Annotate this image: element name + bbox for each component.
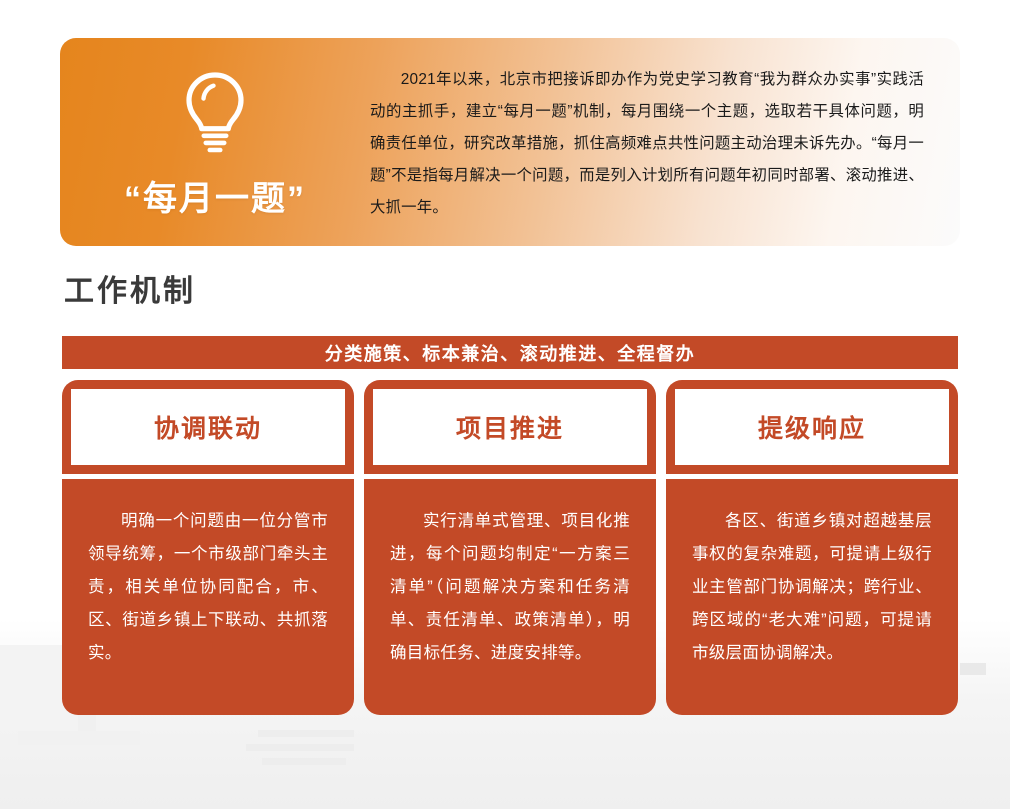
card-header-inner: 协调联动: [71, 389, 345, 465]
section-ribbon: 分类施策、标本兼治、滚动推进、全程督办: [62, 336, 958, 369]
page-root: “每月一题” 2021年以来，北京市把接诉即办作为党史学习教育“我为群众办实事”…: [0, 0, 1010, 809]
card-body: 明确一个问题由一位分管市领导统筹，一个市级部门牵头主责，相关单位协同配合，市、区…: [62, 479, 354, 715]
intro-paragraph: 2021年以来，北京市把接诉即办作为党史学习教育“我为群众办实事”实践活动的主抓…: [370, 64, 924, 224]
page-title: 工作机制: [64, 266, 196, 310]
card-header: 协调联动: [62, 380, 354, 474]
card-body: 各区、街道乡镇对超越基层事权的复杂难题，可提请上级行业主管部门协调解决；跨行业、…: [666, 479, 958, 715]
card-title: 项目推进: [456, 409, 564, 445]
card-header-inner: 提级响应: [675, 389, 949, 465]
intro-block: 2021年以来，北京市把接诉即办作为党史学习教育“我为群众办实事”实践活动的主抓…: [370, 38, 960, 244]
card-coordination: 协调联动 明确一个问题由一位分管市领导统筹，一个市级部门牵头主责，相关单位协同配…: [62, 380, 354, 715]
cards-container: 协调联动 明确一个问题由一位分管市领导统筹，一个市级部门牵头主责，相关单位协同配…: [62, 380, 958, 715]
card-title: 提级响应: [758, 409, 866, 445]
card-header: 提级响应: [666, 380, 958, 474]
brand-block: “每月一题”: [60, 38, 370, 246]
card-title: 协调联动: [154, 409, 262, 445]
card-body: 实行清单式管理、项目化推进，每个问题均制定“一方案三清单”（问题解决方案和任务清…: [364, 479, 656, 715]
card-header: 项目推进: [364, 380, 656, 474]
header-banner: “每月一题” 2021年以来，北京市把接诉即办作为党史学习教育“我为群众办实事”…: [60, 38, 960, 246]
card-header-inner: 项目推进: [373, 389, 647, 465]
lightbulb-icon: [178, 71, 252, 171]
card-escalated-response: 提级响应 各区、街道乡镇对超越基层事权的复杂难题，可提请上级行业主管部门协调解决…: [666, 380, 958, 715]
card-project-advance: 项目推进 实行清单式管理、项目化推进，每个问题均制定“一方案三清单”（问题解决方…: [364, 380, 656, 715]
brand-title: “每月一题”: [124, 171, 306, 220]
